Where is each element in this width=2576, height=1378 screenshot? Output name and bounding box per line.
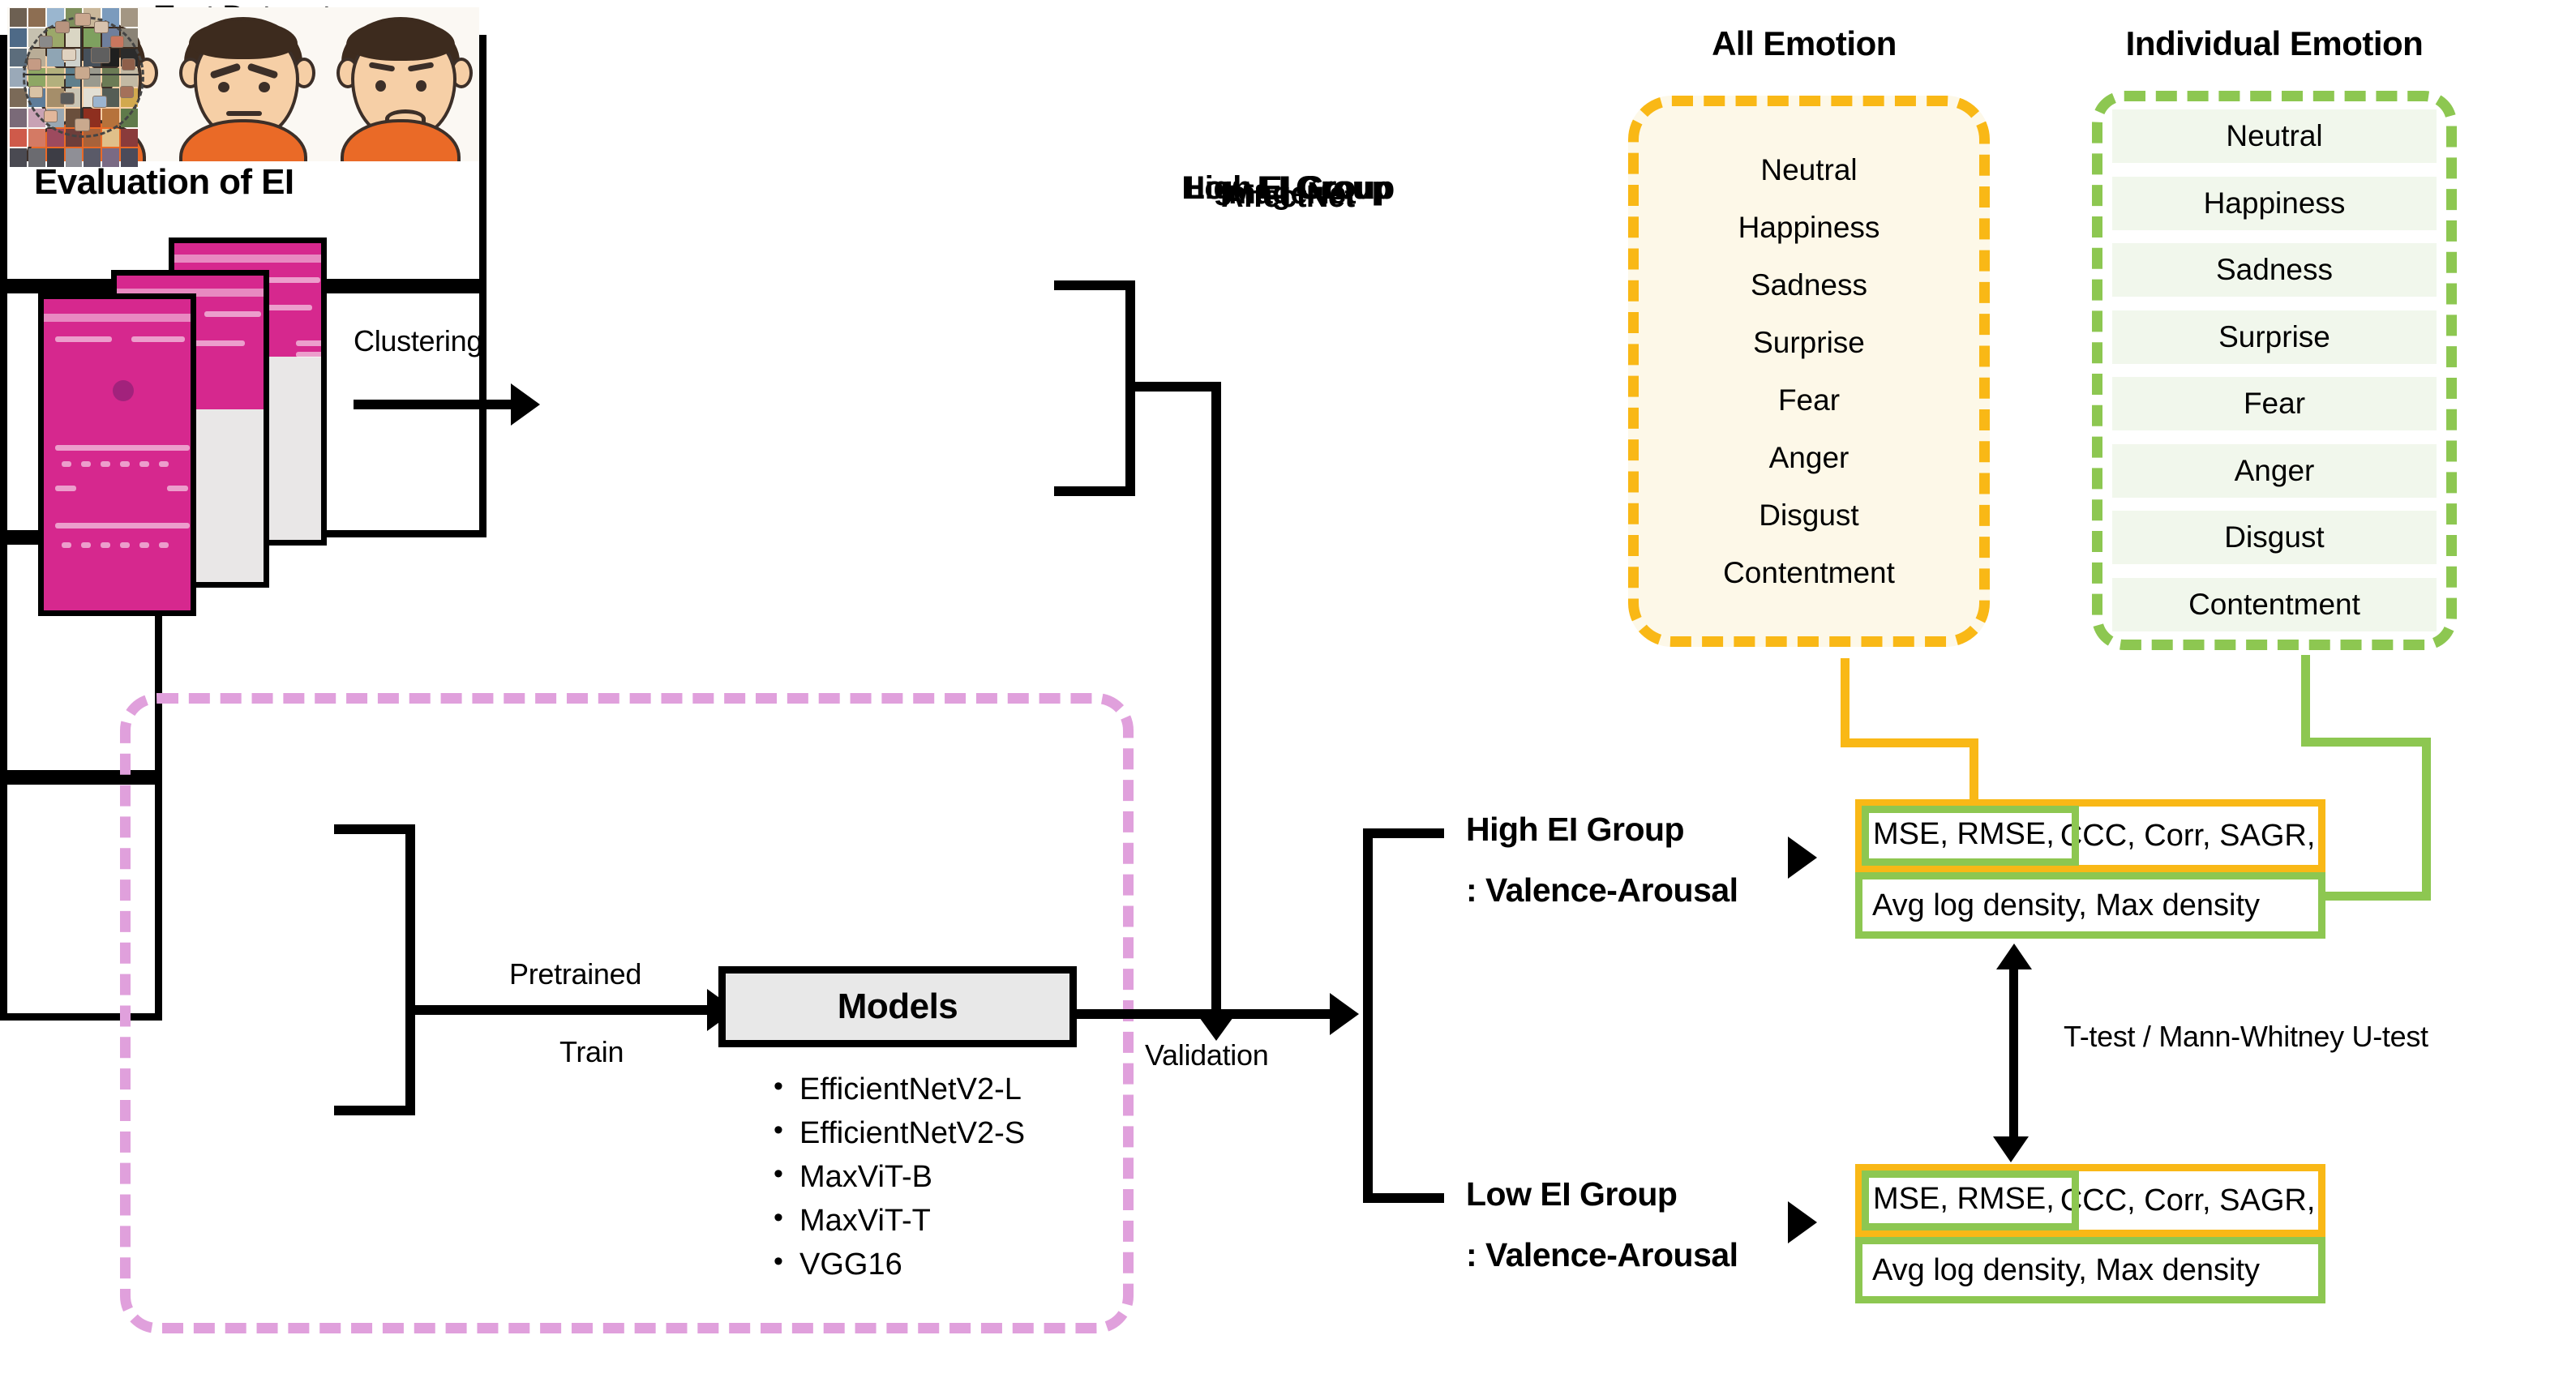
models-list: EfficientNetV2-L EfficientNetV2-S MaxViT… [767,1068,1025,1287]
low-metrics-individual-box: Avg log density, Max density [1855,1237,2325,1303]
validation-drop-line [1211,382,1221,1014]
stat-test-arrow-down [1993,1136,2029,1162]
individual-emotion-connector-v1 [2301,655,2310,747]
high-metrics-arrow [1788,837,1817,879]
high-metrics-all-emotion-text: CCC, Corr, SAGR, [2060,819,2316,854]
all-emotion-connector-h1 [1841,738,1978,747]
clustering-arrow-head [511,383,540,426]
all-emotion-item: Happiness [1738,199,1880,256]
individual-emotion-title: Individual Emotion [2076,24,2473,63]
high-ei-group-result-sub: : Valence-Arousal [1466,871,1738,909]
train-label: Train [559,1035,624,1069]
high-ei-group-result-label: High EI Group [1466,811,1684,849]
group-split-low [1363,1193,1444,1203]
model-item: MaxViT-T [767,1200,1025,1243]
model-item: EfficientNetV2-S [767,1112,1025,1156]
high-metrics-individual-box: Avg log density, Max density [1855,872,2325,939]
group-split-high [1363,828,1444,838]
low-metrics-individual-text: Avg log density, Max density [1872,1253,2260,1288]
models-title: Models [838,986,958,1027]
all-emotion-item: Sadness [1751,256,1867,314]
high-metrics-prefix-text: MSE, RMSE, [1873,817,2055,852]
validation-label: Validation [1145,1038,1268,1072]
all-emotion-item: Fear [1778,371,1840,429]
models-box: Models [718,966,1077,1047]
all-emotion-item: Disgust [1759,486,1858,544]
individual-emotion-panel: Neutral Happiness Sadness Surprise Fear … [2092,91,2457,650]
pretrain-arrow-shaft [405,1005,712,1015]
face-low-sadness [322,7,479,161]
low-metrics-all-emotion-text: CCC, Corr, SAGR, [2060,1183,2316,1218]
all-emotion-item: Neutral [1760,141,1857,199]
stat-test-label: T-test / Mann-Whitney U-test [2064,1020,2428,1054]
face-low-anger [165,7,322,161]
pretrained-label: Pretrained [509,957,641,991]
high-metrics-individual-text: Avg log density, Max density [1872,888,2260,923]
all-emotion-connector-v1 [1841,658,1849,747]
all-emotion-title: All Emotion [1622,24,1987,63]
dataset-branch-affectnet [334,1106,415,1115]
validation-arrow-shaft [1077,1009,1336,1019]
individual-emotion-connector-v2 [2422,738,2431,900]
individual-emotion-item: Happiness [2112,177,2437,230]
individual-emotion-item: Sadness [2112,243,2437,297]
individual-emotion-item: Neutral [2112,109,2437,163]
validation-arrow-head [1330,993,1359,1035]
model-item: EfficientNetV2-L [767,1068,1025,1112]
testdata-branch-stem [1125,382,1221,392]
stat-test-arrow-shaft [2009,966,2018,1141]
testdata-branch-high [1054,280,1135,290]
low-metrics-prefix-text: MSE, RMSE, [1873,1182,2055,1217]
clustering-label: Clustering [354,324,482,358]
all-emotion-item: Contentment [1723,544,1895,601]
individual-emotion-item: Disgust [2112,511,2437,564]
individual-emotion-item: Contentment [2112,578,2437,631]
individual-emotion-item: Anger [2112,444,2437,498]
low-metrics-arrow [1788,1201,1817,1243]
clustering-arrow-shaft [354,400,516,409]
testdata-branch-low [1054,486,1135,496]
all-emotion-connector-v2 [1970,738,1978,799]
individual-emotion-item: Surprise [2112,310,2437,364]
individual-emotion-connector-h1 [2301,738,2431,747]
low-ei-group-result-label: Low EI Group [1466,1175,1677,1213]
all-emotion-item: Surprise [1753,314,1865,371]
all-emotion-item: Anger [1769,429,1849,486]
stat-test-arrow-up [1996,944,2032,969]
survey-screenshot-front [38,293,196,616]
model-item: MaxViT-B [767,1156,1025,1200]
low-ei-group-result-sub: : Valence-Arousal [1466,1236,1738,1274]
all-emotion-panel: Neutral Happiness Sadness Surprise Fear … [1628,96,1990,647]
individual-emotion-item: Fear [2112,377,2437,430]
dataset-branch-imagenet [334,824,415,834]
group-split-spine [1363,828,1373,1203]
model-item: VGG16 [767,1243,1025,1287]
dataset-branch-spine [405,824,415,1115]
